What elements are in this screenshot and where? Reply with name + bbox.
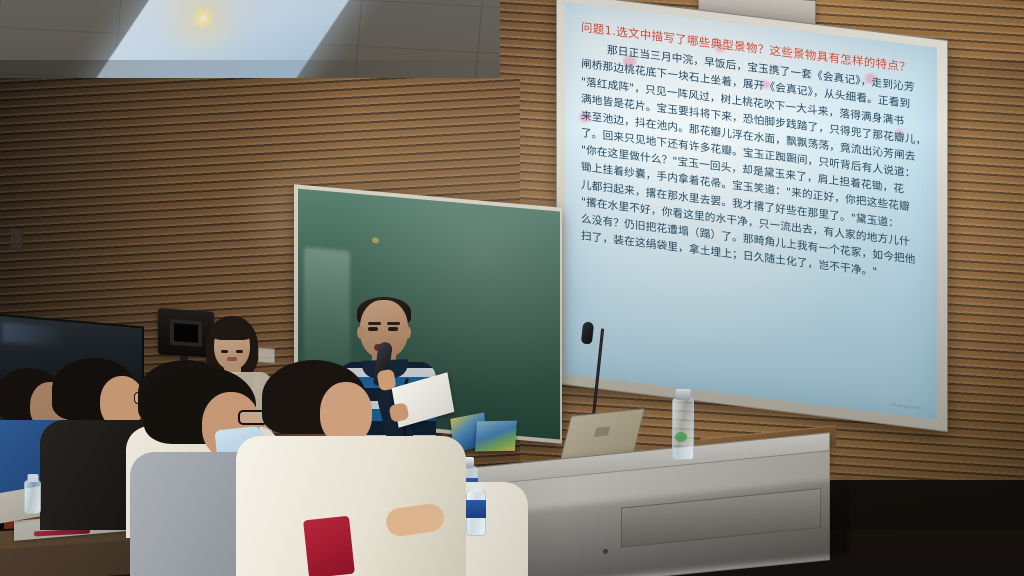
chalkboard-magnet: [372, 237, 379, 244]
bottle-body: [24, 480, 41, 514]
presenter-ear: [403, 326, 411, 339]
woman-eye: [221, 350, 228, 353]
woman-fringe: [211, 320, 253, 340]
presenter-eye: [388, 327, 398, 331]
student-cream-jacket: [246, 360, 436, 576]
chalk-box: [475, 421, 517, 452]
wall-bracket: [10, 228, 23, 251]
desk-water-bottle: [24, 480, 41, 514]
projection-screen-frame: 问题1.选文中描写了哪些典型景物？这些景物具有怎样的特点？ 那日正当三月中浣，早…: [556, 0, 948, 432]
bottle-cap: [27, 474, 38, 482]
sports-water-bottle: [672, 398, 694, 460]
desk-water-bottle: [466, 490, 486, 536]
bottle-label: [466, 500, 486, 518]
presenter-eye: [368, 327, 378, 331]
bottle-body: [672, 398, 694, 460]
slide-text-block: 问题1.选文中描写了哪些典型景物？这些景物具有怎样的特点？ 那日正当三月中浣，早…: [581, 20, 923, 287]
student-head: [320, 382, 372, 444]
presenter-brow: [368, 322, 381, 325]
bottle-logo: [675, 432, 687, 442]
red-bag-accent: [303, 516, 355, 576]
woman-eye: [236, 350, 243, 353]
classroom-scene: 问题1.选文中描写了哪些典型景物？这些景物具有怎样的特点？ 那日正当三月中浣，早…: [0, 0, 1024, 576]
laptop-logo-icon: [594, 426, 610, 436]
projection-screen: 问题1.选文中描写了哪些典型景物？这些景物具有怎样的特点？ 那日正当三月中浣，早…: [565, 2, 937, 420]
bottle-cap: [676, 389, 691, 400]
presenter-ear: [357, 326, 365, 339]
presenter-brow: [387, 322, 400, 325]
monitor-glint: [2, 322, 62, 347]
ceiling-downlight-icon: [190, 8, 216, 28]
bottle-cap: [470, 483, 483, 492]
